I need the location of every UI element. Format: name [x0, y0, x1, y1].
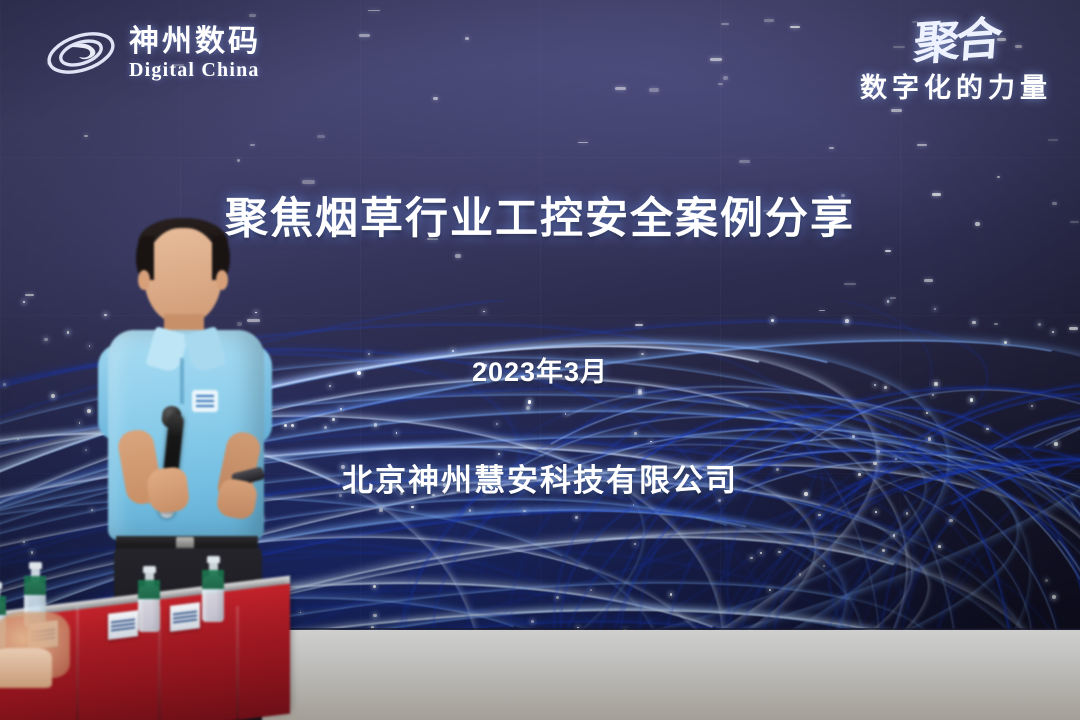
- bottle-label: [202, 570, 224, 589]
- presenter-head: [144, 228, 222, 324]
- bottle-cap: [143, 566, 156, 573]
- bottle-cap: [29, 562, 42, 569]
- juhe-event-logo: 聚合 数字化的力量: [860, 20, 1052, 105]
- drape-fold: [76, 606, 79, 720]
- juhe-tagline: 数字化的力量: [860, 66, 1052, 105]
- presenter-hand-left: [146, 466, 190, 514]
- bottle-label: [0, 596, 6, 615]
- presenter-ear-right: [216, 270, 228, 290]
- bottle-cap: [207, 556, 220, 563]
- digital-china-logo: 神州数码 Digital China: [45, 22, 261, 84]
- logo-english-name: Digital China: [129, 60, 261, 80]
- bottle-body: [202, 576, 224, 622]
- logo-chinese-name: 神州数码: [129, 27, 261, 57]
- polo-placket: [180, 358, 184, 404]
- name-card: [108, 610, 138, 640]
- bottle-cap: [0, 582, 2, 589]
- drape-fold: [236, 606, 239, 720]
- presenter-ear-left: [138, 270, 150, 290]
- stage-photo-scene: 神州数码 Digital China 聚合 数字化的力量 聚焦烟草行业工控安全案…: [0, 0, 1080, 720]
- bottle-label: [138, 580, 160, 599]
- water-bottle: [202, 556, 224, 622]
- bottle-body: [138, 586, 160, 632]
- water-bottle: [138, 566, 160, 632]
- swirl-logo-icon: [45, 22, 117, 84]
- chest-logo-badge: [192, 390, 218, 412]
- juhe-calligraphy: 聚合: [912, 17, 1000, 66]
- bottle-label: [24, 576, 46, 595]
- attendee-arm: [0, 648, 52, 688]
- name-card: [170, 602, 200, 632]
